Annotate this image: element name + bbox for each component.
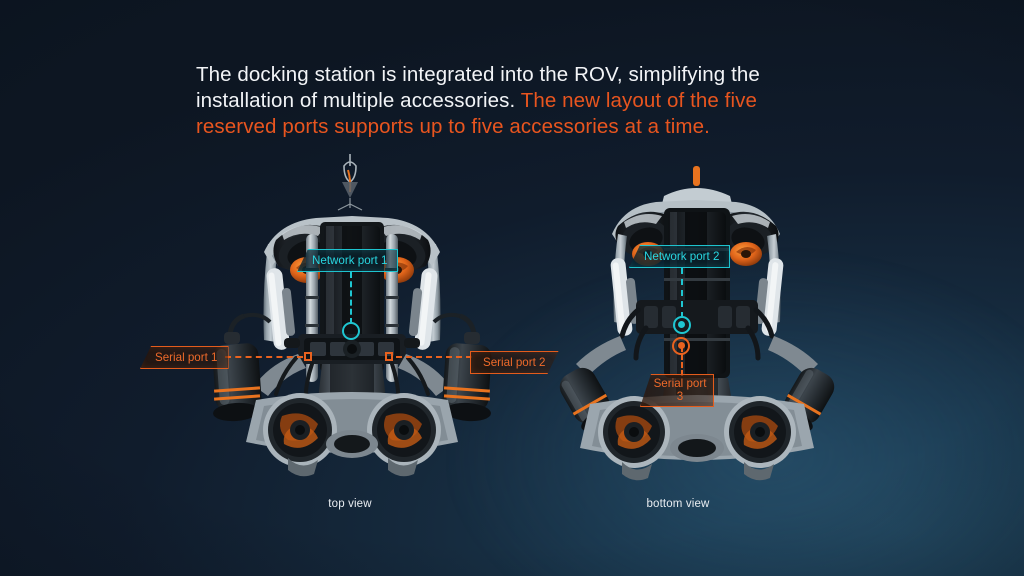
network-port-1-marker (342, 322, 360, 340)
rov-bottom-view-image (560, 160, 834, 490)
serial-port-2-connector-line (396, 356, 472, 358)
caption-top-view: top view (270, 498, 430, 510)
caption-bottom-view: bottom view (598, 498, 758, 510)
network-port-1-connector-line (350, 272, 352, 324)
rov-diagram-stage: Network port 1 Network port 2 Serial por… (0, 0, 1024, 576)
network-port-2-marker-dot (678, 321, 685, 328)
label-serial-port-1[interactable]: Serial port 1 (140, 346, 229, 369)
network-port-2-connector-line (681, 268, 683, 318)
serial-port-3-connector-line (681, 346, 683, 376)
serial-port-1-connector-line (225, 356, 303, 358)
label-network-port-1[interactable]: Network port 1 (297, 249, 398, 272)
rov-top-view-image (172, 148, 532, 488)
label-serial-port-3[interactable]: Serial port 3 (640, 374, 714, 407)
serial-port-1-marker (304, 352, 312, 361)
label-serial-port-2[interactable]: Serial port 2 (470, 351, 559, 374)
label-network-port-2[interactable]: Network port 2 (629, 245, 730, 268)
serial-port-2-marker (385, 352, 393, 361)
